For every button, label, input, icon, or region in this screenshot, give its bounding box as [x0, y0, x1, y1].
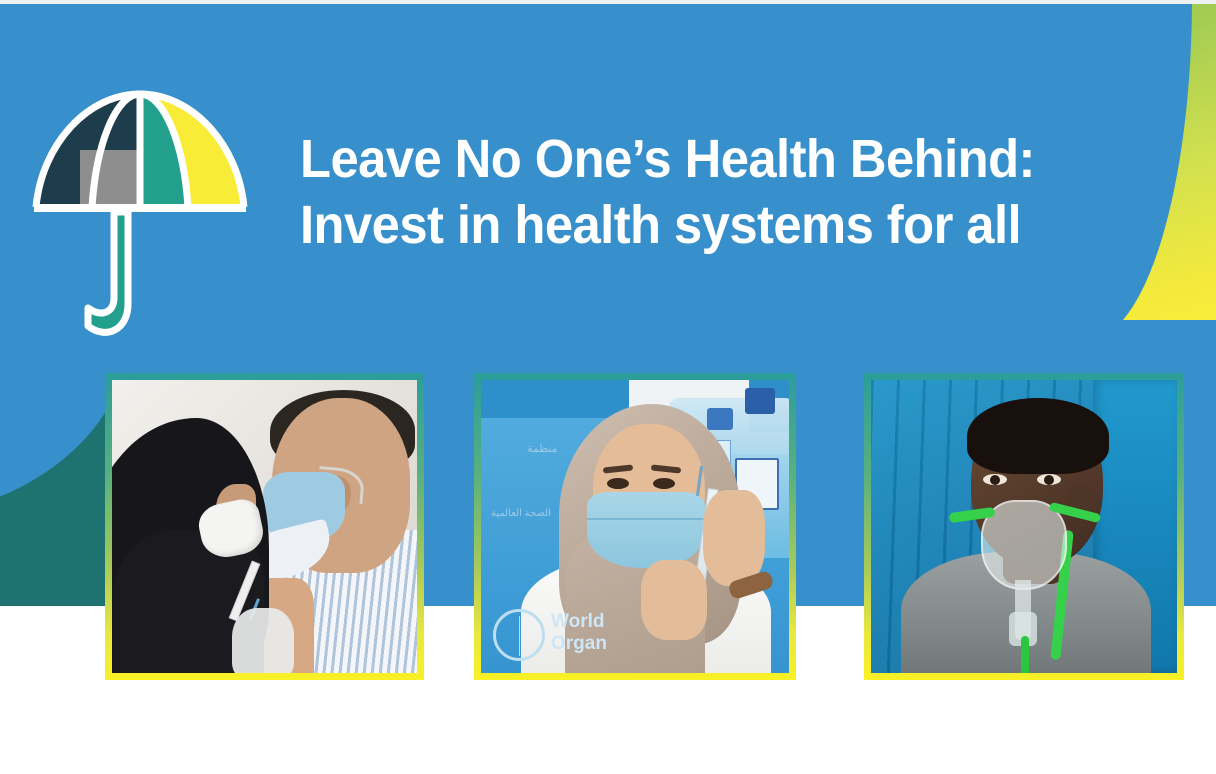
photo3-green-tubing [1021, 636, 1029, 673]
photo2-arabic-text-1: منظمة [527, 442, 558, 455]
who-emblem-icon [493, 609, 545, 661]
photo2-surgical-mask [587, 492, 705, 568]
photo2-vial-cap-1 [745, 388, 775, 414]
top-hairline [0, 0, 1216, 4]
photo3-pupil-right [1044, 475, 1054, 485]
umbrella-logo [18, 72, 263, 357]
photo-vaccination [112, 380, 417, 673]
photo2-who-text-line2: Organ [551, 633, 607, 655]
photo2-eye-left [607, 478, 629, 489]
photo-frame-oxygen-patient [864, 373, 1184, 680]
photo2-upper-hand [703, 490, 765, 586]
page-title: Leave No One’s Health Behind: Invest in … [300, 126, 1014, 258]
photo3-pupil-left [990, 475, 1000, 485]
photo-frame-who-health-worker: منظمة الصحة العالمية World [474, 373, 796, 680]
photo2-lower-hand [641, 560, 707, 640]
banner: Leave No One’s Health Behind: Invest in … [0, 0, 1216, 774]
photo-strip: منظمة الصحة العالمية World [0, 373, 1216, 683]
photo2-eye-right [653, 478, 675, 489]
photo-oxygen-patient [871, 380, 1177, 673]
headline-line-2: Invest in health systems for all [300, 192, 1014, 258]
photo3-patient-hair [967, 398, 1109, 474]
photo-frame-vaccination [105, 373, 424, 680]
headline-line-1: Leave No One’s Health Behind: [300, 129, 1035, 189]
photo1-glove [232, 608, 294, 673]
photo2-who-text-line1: World [551, 611, 607, 633]
photo2-who-backdrop-text: World Organ [551, 611, 607, 655]
photo2-vial-cap-2 [707, 408, 733, 430]
photo2-arabic-text-2: الصحة العالمية [491, 508, 551, 519]
photo-who-health-worker: منظمة الصحة العالمية World [481, 380, 789, 673]
